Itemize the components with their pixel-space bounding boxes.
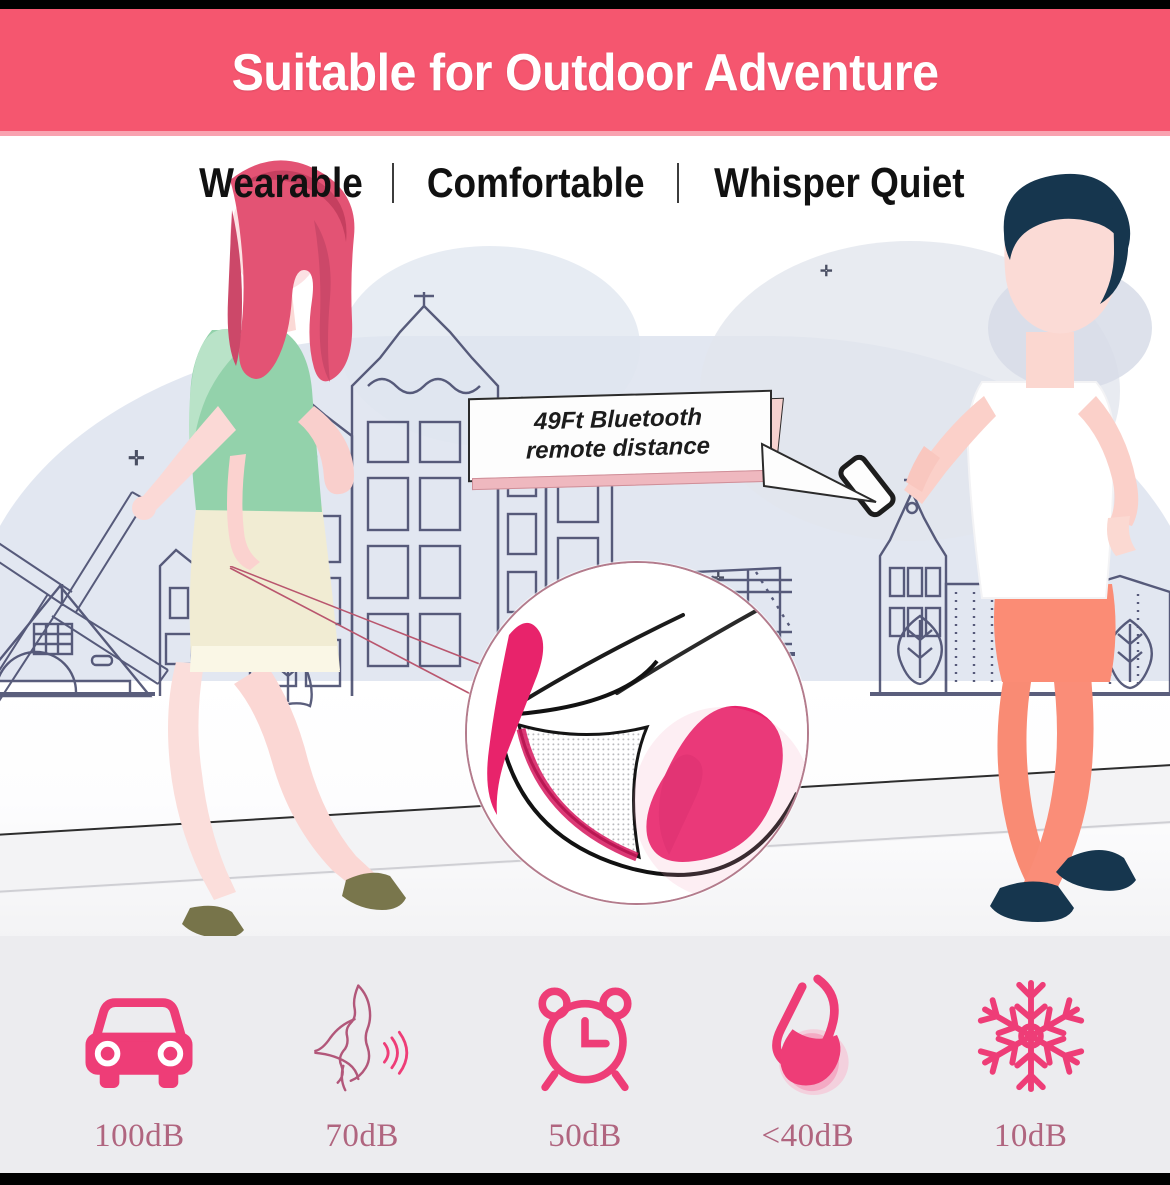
callout-line-2: remote distance [526, 431, 710, 465]
letterbox-bottom [0, 1173, 1170, 1185]
product-magnifier [465, 561, 809, 905]
sparkle-icon: ✛ [820, 264, 833, 279]
stat-item-talking: 70dB [262, 976, 462, 1155]
bluetooth-callout: 49Ft Bluetooth remote distance [468, 394, 778, 486]
header-band: Suitable for Outdoor Adventure [0, 9, 1170, 136]
subhead-separator [392, 163, 394, 203]
talking-person-icon [306, 976, 418, 1096]
figure-man [900, 146, 1170, 946]
stat-label: 10dB [994, 1118, 1068, 1155]
noise-level-strip: 100dB [0, 936, 1170, 1173]
stat-label: 100dB [94, 1118, 185, 1155]
feature-wearable: Wearable [199, 159, 363, 207]
stat-item-clock: 50dB [485, 976, 685, 1155]
car-icon [80, 976, 198, 1096]
subhead-separator [677, 163, 679, 203]
stat-label: <40dB [761, 1118, 854, 1155]
stat-item-snowflake: 10dB [931, 976, 1131, 1155]
alarm-clock-icon [528, 976, 642, 1096]
scene-illustration: ✛ ✛ ✛ ✛ ✛ [0, 136, 1170, 948]
stat-item-car: 100dB [39, 976, 239, 1155]
page-title: Suitable for Outdoor Adventure [231, 43, 938, 103]
vibrator-egg-icon [750, 976, 866, 1096]
callout-leader-line [760, 442, 880, 512]
stat-label: 50dB [548, 1118, 622, 1155]
feature-whisper-quiet: Whisper Quiet [714, 159, 965, 207]
promo-banner: ✛ ✛ ✛ ✛ ✛ [0, 0, 1170, 1185]
feature-comfortable: Comfortable [427, 159, 645, 207]
snowflake-icon [972, 976, 1090, 1096]
callout-text: 49Ft Bluetooth remote distance [468, 390, 768, 478]
callout-line-1: 49Ft Bluetooth [534, 402, 702, 436]
feature-subheadline: Wearable Comfortable Whisper Quiet [0, 152, 1170, 214]
figure-woman [70, 156, 430, 946]
stat-label: 70dB [325, 1118, 399, 1155]
letterbox-top [0, 0, 1170, 9]
stat-item-vibrator: <40dB [708, 976, 908, 1155]
